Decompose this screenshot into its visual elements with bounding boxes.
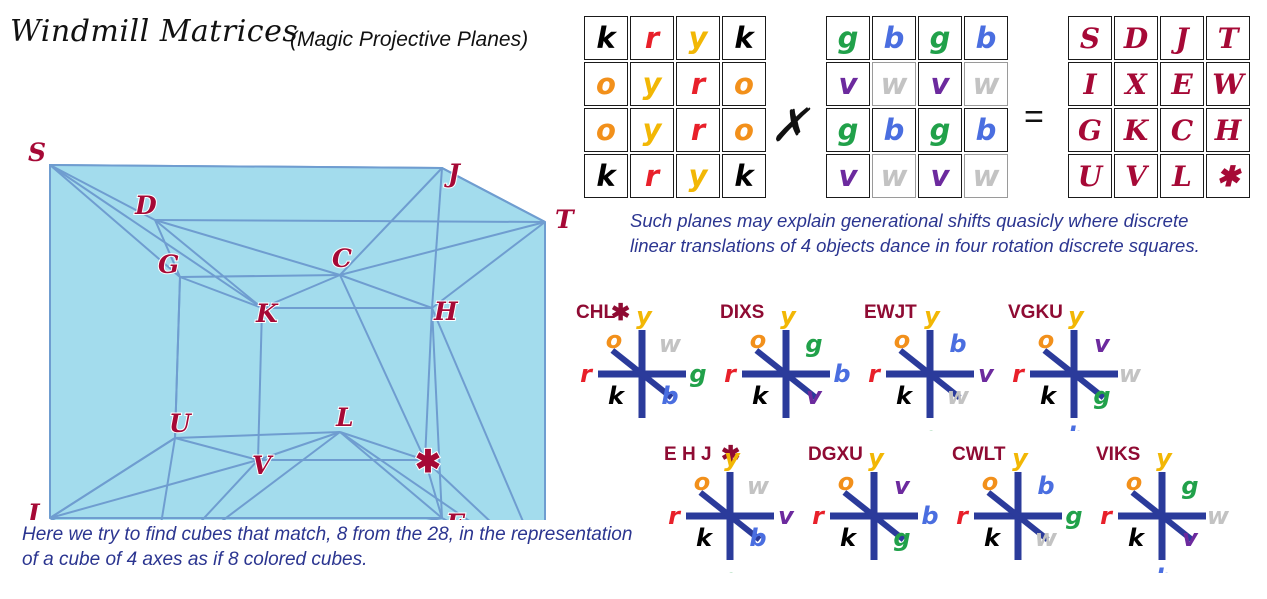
matrix-cell: b [872,16,916,60]
star-diagram-row-bottom: E H J✱ygrvowkbDGXUywrbovkgCWLTyvrgobkwVI… [660,438,1232,578]
matrix-letter: T [1218,22,1239,55]
star-label-ul: o [750,326,767,354]
star-diagram-dgxu: DGXUywrbovkg [804,438,944,578]
matrix-letter: V [1125,160,1147,193]
star-label-right: b [921,502,938,530]
star-label-lr: b [661,382,678,410]
star-label-right: w [1207,502,1230,530]
matrix-cell: S [1068,16,1112,60]
matrix-cell: o [584,108,628,152]
matrix-letter: C [1171,114,1193,147]
star-diagram-vgku: VGKUybrwovkg [1004,296,1144,436]
star-diagram-row-top: CHL✱yvrgowkbDIXSywrbogkvEWJTygrvobkwVGKU… [572,296,1144,436]
star-label-up: y [1012,444,1029,472]
star-diagram-dixs: DIXSywrbogkv [716,296,856,436]
cube-vertex-label-v: V [252,451,274,480]
star-label-down: g [923,422,940,431]
matrix-cell: b [964,16,1008,60]
matrix-cell: b [872,108,916,152]
matrix-cell: w [964,154,1008,198]
matrix-letter: X [1125,68,1147,101]
matrix-cell: v [826,62,870,106]
star-label-ur: g [805,330,822,358]
times-operator: ✗ [770,98,809,152]
star-label-right: w [1119,360,1142,388]
star-label-up: y [780,302,797,330]
cube-vertex-label-c: C [332,244,352,273]
matrix-cell: o [584,62,628,106]
matrix-cell: k [722,16,766,60]
matrix-cell: U [1068,154,1112,198]
star-title: VGKU [1008,302,1063,323]
matrix-cell: X [1114,62,1158,106]
matrix-cell: G [1068,108,1112,152]
matrix-letter: ✱ [1216,160,1239,193]
star-label-down: b [1067,422,1084,431]
star-label-up: y [636,302,653,330]
star-label-ll: k [1040,382,1058,410]
star-label-left: r [1100,502,1114,530]
star-label-ll: k [696,524,714,552]
star-label-right: g [689,360,706,388]
equals-operator: = [1024,98,1044,137]
star-diagram-chl: CHL✱yvrgowkb [572,296,712,436]
star-label-ul: o [694,468,711,496]
star-label-down: v [1012,564,1029,573]
matrix-cell: w [964,62,1008,106]
star-label-right: v [778,502,795,530]
star-label-right: g [1065,502,1082,530]
matrix-letter: W [1212,68,1243,101]
matrix-cell: J [1160,16,1204,60]
result-matrix: SDJTIXEWGKCHUVL✱ [1068,16,1250,198]
matrix-letter: I [1083,68,1096,101]
matrix-letter: L [1172,160,1192,193]
matrix-cell: b [964,108,1008,152]
star-label-ul: o [1126,468,1143,496]
cube-vertex-label-l: L [335,403,354,432]
star-diagram-cwlt: CWLTyvrgobkw [948,438,1088,578]
matrix-cell: g [918,108,962,152]
star-label-ur: w [659,330,682,358]
star-title: DGXU [808,444,863,465]
matrix-cell: r [676,108,720,152]
cube-vertex-label-d: D [134,191,157,220]
star-label-lr: b [749,524,766,552]
star-diagram-viks: VIKSybrwogkv [1092,438,1232,578]
matrix-cell: E [1160,62,1204,106]
cube-vertex-label-s: S [28,138,46,167]
star-label-ur: w [747,472,770,500]
star-label-lr: g [893,524,910,552]
matrix-cell: k [722,154,766,198]
matrix-cell: k [584,16,628,60]
matrix-cell: V [1114,154,1158,198]
star-label-ur: b [949,330,966,358]
star-label-left: r [668,502,682,530]
star-label-ll: k [984,524,1002,552]
star-label-lr: v [1182,524,1199,552]
star-label-down: v [636,422,653,431]
matrix-letter: K [1124,114,1148,147]
matrix-cell: T [1206,16,1250,60]
matrix-cell: ✱ [1206,154,1250,198]
star-label-down: w [777,422,800,431]
cube-vertex-label-u: U [169,409,193,438]
matrix-cell: g [826,16,870,60]
cube-vertex-label-g: G [158,250,179,279]
matrix-cell: L [1160,154,1204,198]
page-subtitle: (Magic Projective Planes) [290,28,528,52]
star-label-down: w [865,564,888,573]
windmill-matrix-b: gbgbvwvwgbgbvwvw [826,16,1008,198]
cube-inner-face [50,165,545,520]
cube-caption: Here we try to find cubes that match, 8 … [22,522,642,572]
star-title-asterisk: ✱ [611,299,630,325]
star-title: E H J [664,444,712,465]
star-label-left: r [956,502,970,530]
star-label-ul: o [1038,326,1055,354]
matrix-cell: D [1114,16,1158,60]
cube-vertex-label-h: H [433,297,459,326]
matrix-cell: g [918,16,962,60]
matrix-letter: G [1078,114,1102,147]
star-label-lr: w [1035,524,1058,552]
star-label-ll: k [896,382,914,410]
star-label-ul: o [894,326,911,354]
matrix-cell: r [630,154,674,198]
star-label-up: y [924,302,941,330]
matrix-cell: C [1160,108,1204,152]
tesseract-diagram: SJDTGCKHULV✱IEXW [0,70,580,520]
star-label-up: y [1068,302,1085,330]
star-label-up: y [724,444,741,472]
cube-vertex-label-i: I [27,499,41,520]
star-label-lr: v [806,382,823,410]
star-label-ur: v [894,472,911,500]
matrix-cell: v [826,154,870,198]
star-title: DIXS [720,302,764,323]
matrix-cell: r [630,16,674,60]
matrix-letter: J [1175,22,1188,55]
matrix-cell: r [676,62,720,106]
windmill-matrix-a: krykoyrooyrokryk [584,16,766,198]
page-title: Windmill Matrices [10,14,298,49]
matrix-letter: H [1215,114,1241,147]
matrix-cell: y [630,62,674,106]
star-label-ll: k [1128,524,1146,552]
matrix-letter: U [1078,160,1102,193]
star-label-up: y [1156,444,1173,472]
star-label-up: y [868,444,885,472]
matrix-cell: w [872,62,916,106]
star-label-left: r [1012,360,1026,388]
matrix-letter: S [1080,22,1100,55]
star-label-ur: v [1094,330,1111,358]
matrix-cell: y [676,16,720,60]
star-label-ll: k [608,382,626,410]
cube-vertex-label-star: ✱ [415,444,441,479]
star-diagram-ewjt: EWJTygrvobkw [860,296,1000,436]
matrix-cell: v [918,154,962,198]
matrix-cell: I [1068,62,1112,106]
star-title: CHL [576,302,615,323]
star-label-left: r [812,502,826,530]
planes-caption: Such planes may explain generational shi… [630,208,1230,258]
matrix-letter: D [1124,22,1148,55]
star-label-right: b [833,360,850,388]
star-label-ul: o [838,468,855,496]
star-label-ul: o [982,468,999,496]
star-title: EWJT [864,302,917,323]
matrix-cell: o [722,62,766,106]
matrix-cell: y [630,108,674,152]
matrix-cell: k [584,154,628,198]
star-label-left: r [868,360,882,388]
star-label-ul: o [606,326,623,354]
matrix-cell: K [1114,108,1158,152]
star-diagram-ehj: E H J✱ygrvowkb [660,438,800,578]
matrix-cell: H [1206,108,1250,152]
star-label-ll: k [840,524,858,552]
star-title: CWLT [952,444,1006,465]
cube-vertex-label-k: K [255,299,279,328]
star-label-lr: w [947,382,970,410]
star-label-left: r [580,360,594,388]
star-label-ur: g [1181,472,1198,500]
star-label-down: g [723,564,740,573]
matrix-cell: o [722,108,766,152]
star-label-left: r [724,360,738,388]
matrix-cell: v [918,62,962,106]
star-label-down: b [1155,564,1172,573]
matrix-letter: E [1171,68,1192,101]
matrix-cell: g [826,108,870,152]
cube-vertex-label-e: E [445,509,466,520]
star-label-ll: k [752,382,770,410]
star-label-lr: g [1093,382,1110,410]
matrix-cell: y [676,154,720,198]
star-label-right: v [978,360,995,388]
star-label-ur: b [1037,472,1054,500]
star-title: VIKS [1096,444,1140,465]
cube-vertex-label-t: T [555,205,576,234]
matrix-cell: W [1206,62,1250,106]
matrix-cell: w [872,154,916,198]
